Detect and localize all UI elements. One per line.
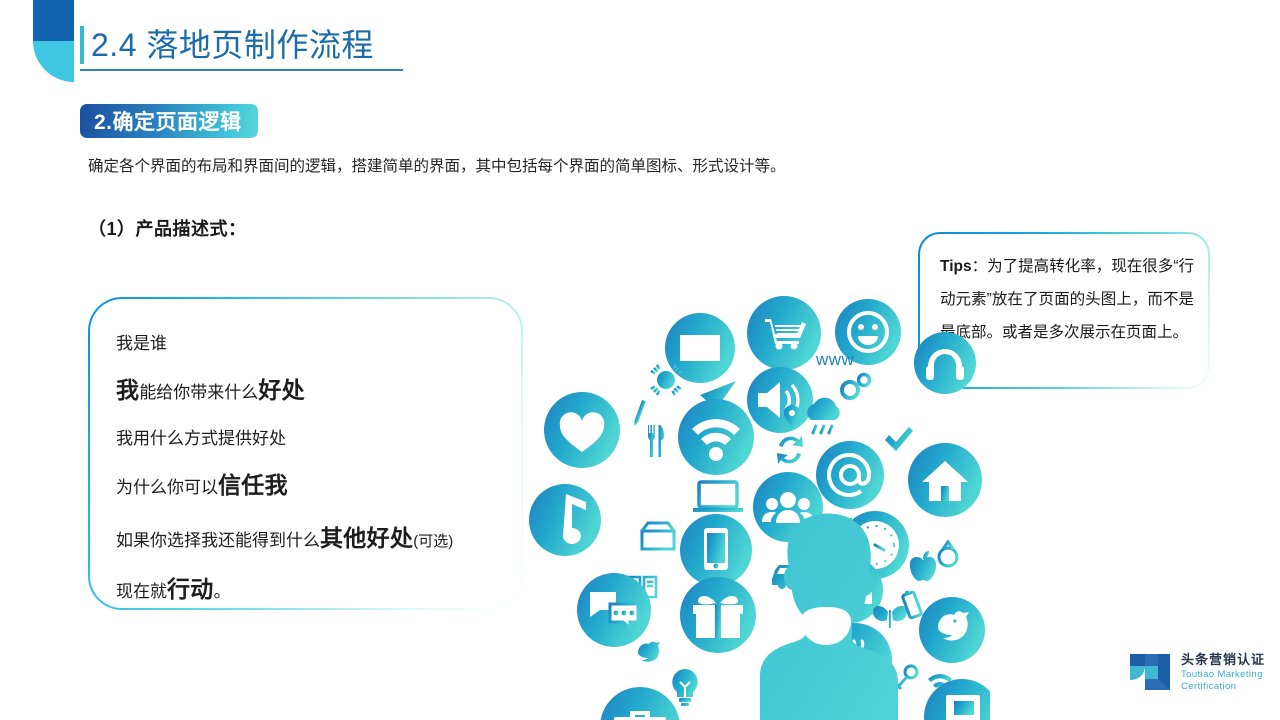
copy-line-2-text: 能给你带来什么 bbox=[139, 383, 258, 402]
copy-line-4-bold: 信任我 bbox=[218, 472, 288, 498]
copy-line-4-text: 为什么你可以 bbox=[116, 478, 218, 497]
intro-paragraph: 确定各个界面的布局和界面间的逻辑，搭建简单的界面，其中包括每个界面的简单图标、形… bbox=[88, 155, 786, 179]
copy-line-2-bold-a: 我 bbox=[116, 377, 139, 403]
logo-english-line-2: Certification bbox=[1181, 682, 1265, 692]
copy-line-6: 现在就行动。 bbox=[116, 570, 495, 604]
www-label: www bbox=[815, 350, 855, 369]
logo-mark-icon bbox=[1128, 652, 1172, 692]
copy-line-5-note: (可选) bbox=[413, 533, 453, 550]
copy-line-3: 我用什么方式提供好处 bbox=[116, 424, 495, 449]
tips-label: Tips bbox=[940, 258, 972, 275]
svg-text:www: www bbox=[815, 350, 855, 369]
copy-line-5-text: 如果你选择我还能得到什么 bbox=[116, 531, 320, 550]
copy-line-2: 我能给你带来什么好处 bbox=[116, 371, 495, 405]
page-title-group: 2.4 落地页制作流程 bbox=[80, 26, 500, 71]
title-underline bbox=[80, 69, 403, 71]
subsection-heading: （1）产品描述式： bbox=[88, 215, 247, 241]
logo-text-group: 头条营销认证 Toutiao Marketing Certification bbox=[1181, 653, 1265, 691]
product-description-box: 我是谁 我能给你带来什么好处 我用什么方式提供好处 为什么你可以信任我 如果你选… bbox=[88, 297, 523, 610]
copy-line-5: 如果你选择我还能得到什么其他好处(可选) bbox=[116, 519, 495, 553]
icon-cloud-illustration: www bbox=[520, 285, 990, 720]
decorative-block-bottom bbox=[33, 41, 74, 82]
brand-logo: 头条营销认证 Toutiao Marketing Certification bbox=[1128, 652, 1265, 692]
logo-english-line-1: Toutiao Marketing bbox=[1181, 670, 1265, 680]
section-badge: 2.确定页面逻辑 bbox=[80, 104, 258, 138]
copy-line-2-bold-b: 好处 bbox=[258, 377, 305, 403]
decorative-corner-block bbox=[33, 0, 74, 82]
copy-line-6-bold: 行动 bbox=[167, 576, 214, 602]
copy-line-3-text: 我用什么方式提供好处 bbox=[116, 429, 286, 448]
copy-line-6-period: 。 bbox=[214, 582, 231, 601]
copy-line-6-text: 现在就 bbox=[116, 582, 167, 601]
copy-line-1-text: 我是谁 bbox=[116, 334, 167, 353]
logo-chinese-name: 头条营销认证 bbox=[1181, 653, 1265, 666]
page-title: 2.4 落地页制作流程 bbox=[91, 26, 374, 64]
title-accent-bar bbox=[80, 26, 84, 64]
copy-line-5-bold: 其他好处 bbox=[320, 525, 413, 551]
decorative-block-top bbox=[33, 0, 74, 41]
copy-line-1: 我是谁 bbox=[116, 329, 495, 354]
slide-canvas: 2.4 落地页制作流程 2.确定页面逻辑 确定各个界面的布局和界面间的逻辑，搭建… bbox=[0, 0, 1280, 720]
copy-line-4: 为什么你可以信任我 bbox=[116, 466, 495, 500]
